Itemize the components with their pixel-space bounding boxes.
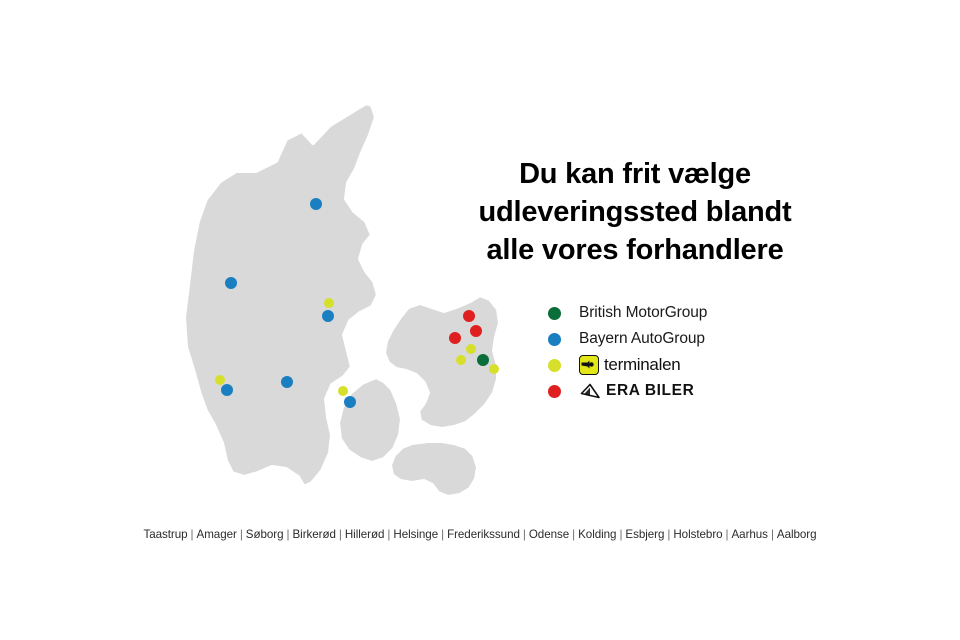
era-biler-logo: ERA BILER	[579, 382, 694, 400]
map-landmasses	[184, 103, 500, 497]
map-marker	[215, 375, 225, 385]
legend-label-bayern-autogroup: Bayern AutoGroup	[579, 330, 705, 348]
era-triangle-icon	[579, 383, 601, 400]
map-marker	[449, 332, 461, 344]
map-marker	[489, 364, 499, 374]
map-marker	[281, 376, 293, 388]
city-name: Aarhus	[732, 528, 768, 541]
era-biler-wordmark: ERA BILER	[606, 382, 694, 400]
lolland-falster-landmass	[390, 441, 478, 497]
map-marker	[324, 298, 334, 308]
city-name: Aalborg	[777, 528, 817, 541]
city-separator: |	[723, 528, 732, 541]
map-marker	[463, 310, 475, 322]
city-name: Esbjerg	[625, 528, 664, 541]
terminalen-logo: terminalen	[579, 355, 680, 375]
dealer-legend: British MotorGroup Bayern AutoGroup term…	[548, 300, 808, 404]
map-marker	[466, 344, 476, 354]
city-list: Taastrup|Amager|Søborg|Birkerød|Hillerød…	[0, 528, 960, 541]
map-marker	[322, 310, 334, 322]
map-marker	[470, 325, 482, 337]
map-marker	[221, 384, 233, 396]
city-name: Holstebro	[673, 528, 722, 541]
legend-swatch-yellow	[548, 359, 561, 372]
city-name: Frederikssund	[447, 528, 520, 541]
city-name: Taastrup	[143, 528, 187, 541]
map-marker	[477, 354, 489, 366]
map-marker	[225, 277, 237, 289]
terminalen-wordmark: terminalen	[604, 355, 680, 375]
legend-swatch-red	[548, 385, 561, 398]
city-separator: |	[569, 528, 578, 541]
city-separator: |	[520, 528, 529, 541]
map-marker	[310, 198, 322, 210]
map-marker	[456, 355, 466, 365]
city-name: Birkerød	[292, 528, 335, 541]
city-name: Kolding	[578, 528, 616, 541]
legend-item-era-biler[interactable]: ERA BILER	[548, 378, 808, 404]
headline-line-2: udleveringssted blandt	[455, 193, 815, 231]
page-title: Du kan frit vælge udleveringssted blandt…	[455, 155, 815, 269]
map-marker	[344, 396, 356, 408]
city-separator: |	[336, 528, 345, 541]
legend-item-bayern-autogroup[interactable]: Bayern AutoGroup	[548, 326, 808, 352]
terminalen-car-icon	[579, 355, 599, 375]
map-marker	[338, 386, 348, 396]
headline-line-1: Du kan frit vælge	[455, 155, 815, 193]
city-name: Odense	[529, 528, 569, 541]
city-separator: |	[438, 528, 447, 541]
city-separator: |	[188, 528, 197, 541]
city-name: Hillerød	[345, 528, 385, 541]
legend-label-british-motorgroup: British MotorGroup	[579, 304, 707, 322]
city-name: Helsinge	[393, 528, 438, 541]
legend-item-terminalen[interactable]: terminalen	[548, 352, 808, 378]
poster-canvas: Du kan frit vælge udleveringssted blandt…	[0, 0, 960, 640]
city-separator: |	[664, 528, 673, 541]
legend-swatch-green	[548, 307, 561, 320]
city-name: Søborg	[246, 528, 284, 541]
legend-item-british-motorgroup[interactable]: British MotorGroup	[548, 300, 808, 326]
city-separator: |	[768, 528, 777, 541]
city-separator: |	[237, 528, 246, 541]
legend-swatch-blue	[548, 333, 561, 346]
headline-line-3: alle vores forhandlere	[455, 231, 815, 269]
city-name: Amager	[197, 528, 237, 541]
